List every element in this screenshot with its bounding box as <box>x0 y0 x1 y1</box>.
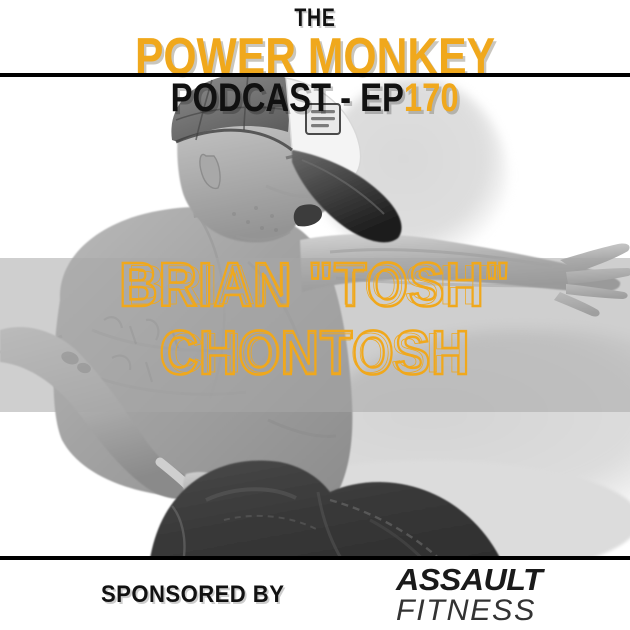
header-divider-rule <box>0 73 630 77</box>
sponsor-bar: SPONSORED BY ASSAULT FITNESS <box>0 560 630 630</box>
sponsor-name-top: ASSAULT <box>396 564 542 595</box>
assault-fitness-logo: ASSAULT FITNESS <box>396 564 537 626</box>
sponsored-by-label: SPONSORED BY <box>101 581 284 609</box>
sponsor-name-bottom: FITNESS <box>396 596 539 626</box>
title-overlay-band <box>0 258 630 412</box>
podcast-cover-art: THE POWER MONKEY PODCAST - EP170 BRIAN "… <box>0 0 630 630</box>
